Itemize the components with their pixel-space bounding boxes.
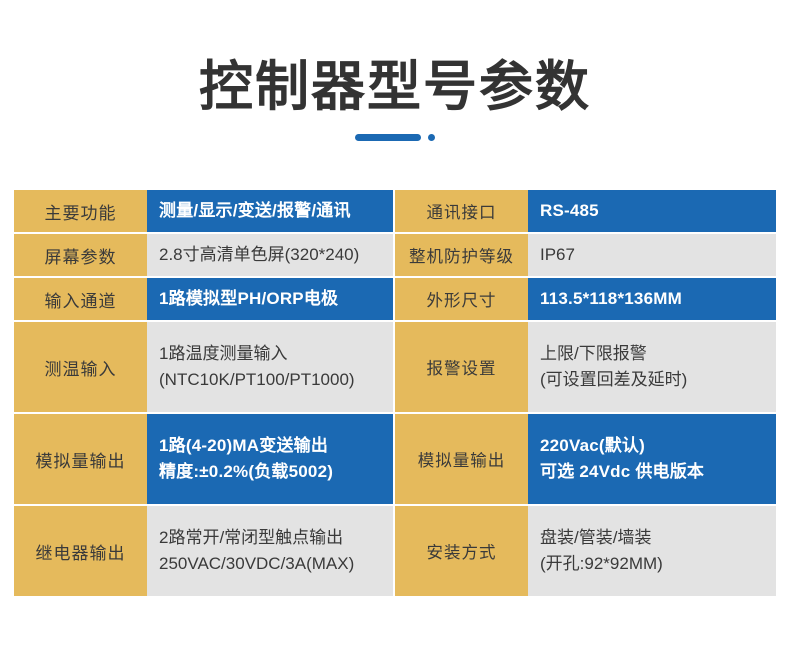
spec-value-line: 220Vac(默认) (540, 433, 764, 459)
underline-dot-icon (428, 134, 435, 141)
spec-pair-right: 整机防护等级 IP67 (395, 234, 776, 276)
page-title: 控制器型号参数 (0, 58, 790, 117)
spec-value-line: 盘装/管装/墙装 (540, 525, 764, 551)
spec-value-line: (NTC10K/PT100/PT1000) (159, 367, 381, 393)
spec-value: 2.8寸高清单色屏(320*240) (147, 234, 393, 276)
spec-value: RS-485 (528, 190, 776, 232)
spec-label: 测温输入 (14, 322, 147, 412)
spec-label: 模拟量输出 (14, 414, 147, 504)
spec-value-line: 可选 24Vdc 供电版本 (540, 459, 764, 485)
underline-bar (355, 134, 421, 141)
spec-table: 主要功能 测量/显示/变送/报警/通讯 通讯接口 RS-485 屏幕参数 2.8… (14, 190, 776, 596)
spec-value-line: IP67 (540, 242, 764, 268)
spec-value-line: 2路常开/常闭型触点输出 (159, 525, 381, 551)
spec-value: 1路模拟型PH/ORP电极 (147, 278, 393, 320)
spec-value-line: 1路温度测量输入 (159, 341, 381, 367)
spec-label: 屏幕参数 (14, 234, 147, 276)
spec-value-line: 1路模拟型PH/ORP电极 (159, 286, 381, 312)
table-row: 模拟量输出 1路(4-20)MA变送输出 精度:±0.2%(负载5002) 模拟… (14, 414, 776, 506)
spec-pair-right: 外形尺寸 113.5*118*136MM (395, 278, 776, 320)
spec-value-line: 精度:±0.2%(负载5002) (159, 459, 381, 485)
spec-pair-right: 安装方式 盘装/管装/墙装 (开孔:92*92MM) (395, 506, 776, 596)
spec-pair-right: 通讯接口 RS-485 (395, 190, 776, 232)
spec-label: 整机防护等级 (395, 234, 528, 276)
spec-value: 220Vac(默认) 可选 24Vdc 供电版本 (528, 414, 776, 504)
table-row: 继电器输出 2路常开/常闭型触点输出 250VAC/30VDC/3A(MAX) … (14, 506, 776, 596)
spec-pair-left: 继电器输出 2路常开/常闭型触点输出 250VAC/30VDC/3A(MAX) (14, 506, 395, 596)
spec-label: 外形尺寸 (395, 278, 528, 320)
table-row: 测温输入 1路温度测量输入 (NTC10K/PT100/PT1000) 报警设置… (14, 322, 776, 414)
spec-label: 输入通道 (14, 278, 147, 320)
spec-sheet-page: 控制器型号参数 主要功能 测量/显示/变送/报警/通讯 通讯接口 RS-485 (0, 0, 790, 649)
spec-value: 盘装/管装/墙装 (开孔:92*92MM) (528, 506, 776, 596)
spec-label: 主要功能 (14, 190, 147, 232)
spec-value-line: 上限/下限报警 (540, 341, 764, 367)
spec-label: 继电器输出 (14, 506, 147, 596)
spec-value-line: (开孔:92*92MM) (540, 551, 764, 577)
spec-value-line: (可设置回差及延时) (540, 367, 764, 393)
spec-pair-left: 输入通道 1路模拟型PH/ORP电极 (14, 278, 395, 320)
spec-pair-left: 屏幕参数 2.8寸高清单色屏(320*240) (14, 234, 395, 276)
spec-pair-left: 测温输入 1路温度测量输入 (NTC10K/PT100/PT1000) (14, 322, 395, 412)
table-row: 屏幕参数 2.8寸高清单色屏(320*240) 整机防护等级 IP67 (14, 234, 776, 278)
spec-pair-left: 主要功能 测量/显示/变送/报警/通讯 (14, 190, 395, 232)
spec-value: 1路温度测量输入 (NTC10K/PT100/PT1000) (147, 322, 393, 412)
table-row: 输入通道 1路模拟型PH/ORP电极 外形尺寸 113.5*118*136MM (14, 278, 776, 322)
spec-label: 通讯接口 (395, 190, 528, 232)
spec-value: 上限/下限报警 (可设置回差及延时) (528, 322, 776, 412)
spec-value-line: 1路(4-20)MA变送输出 (159, 433, 381, 459)
spec-value: 1路(4-20)MA变送输出 精度:±0.2%(负载5002) (147, 414, 393, 504)
table-row: 主要功能 测量/显示/变送/报警/通讯 通讯接口 RS-485 (14, 190, 776, 234)
spec-pair-right: 报警设置 上限/下限报警 (可设置回差及延时) (395, 322, 776, 412)
spec-value: 2路常开/常闭型触点输出 250VAC/30VDC/3A(MAX) (147, 506, 393, 596)
spec-pair-left: 模拟量输出 1路(4-20)MA变送输出 精度:±0.2%(负载5002) (14, 414, 395, 504)
spec-value-line: 2.8寸高清单色屏(320*240) (159, 242, 381, 268)
spec-value: IP67 (528, 234, 776, 276)
title-underline-accent (0, 134, 790, 141)
spec-label: 模拟量输出 (395, 414, 528, 504)
spec-value-line: 250VAC/30VDC/3A(MAX) (159, 551, 381, 577)
title-block: 控制器型号参数 (0, 58, 790, 141)
spec-value: 测量/显示/变送/报警/通讯 (147, 190, 393, 232)
spec-value: 113.5*118*136MM (528, 278, 776, 320)
spec-pair-right: 模拟量输出 220Vac(默认) 可选 24Vdc 供电版本 (395, 414, 776, 504)
spec-label: 报警设置 (395, 322, 528, 412)
spec-label: 安装方式 (395, 506, 528, 596)
spec-value-line: 113.5*118*136MM (540, 286, 764, 312)
spec-value-line: 测量/显示/变送/报警/通讯 (159, 198, 381, 224)
spec-value-line: RS-485 (540, 198, 764, 224)
